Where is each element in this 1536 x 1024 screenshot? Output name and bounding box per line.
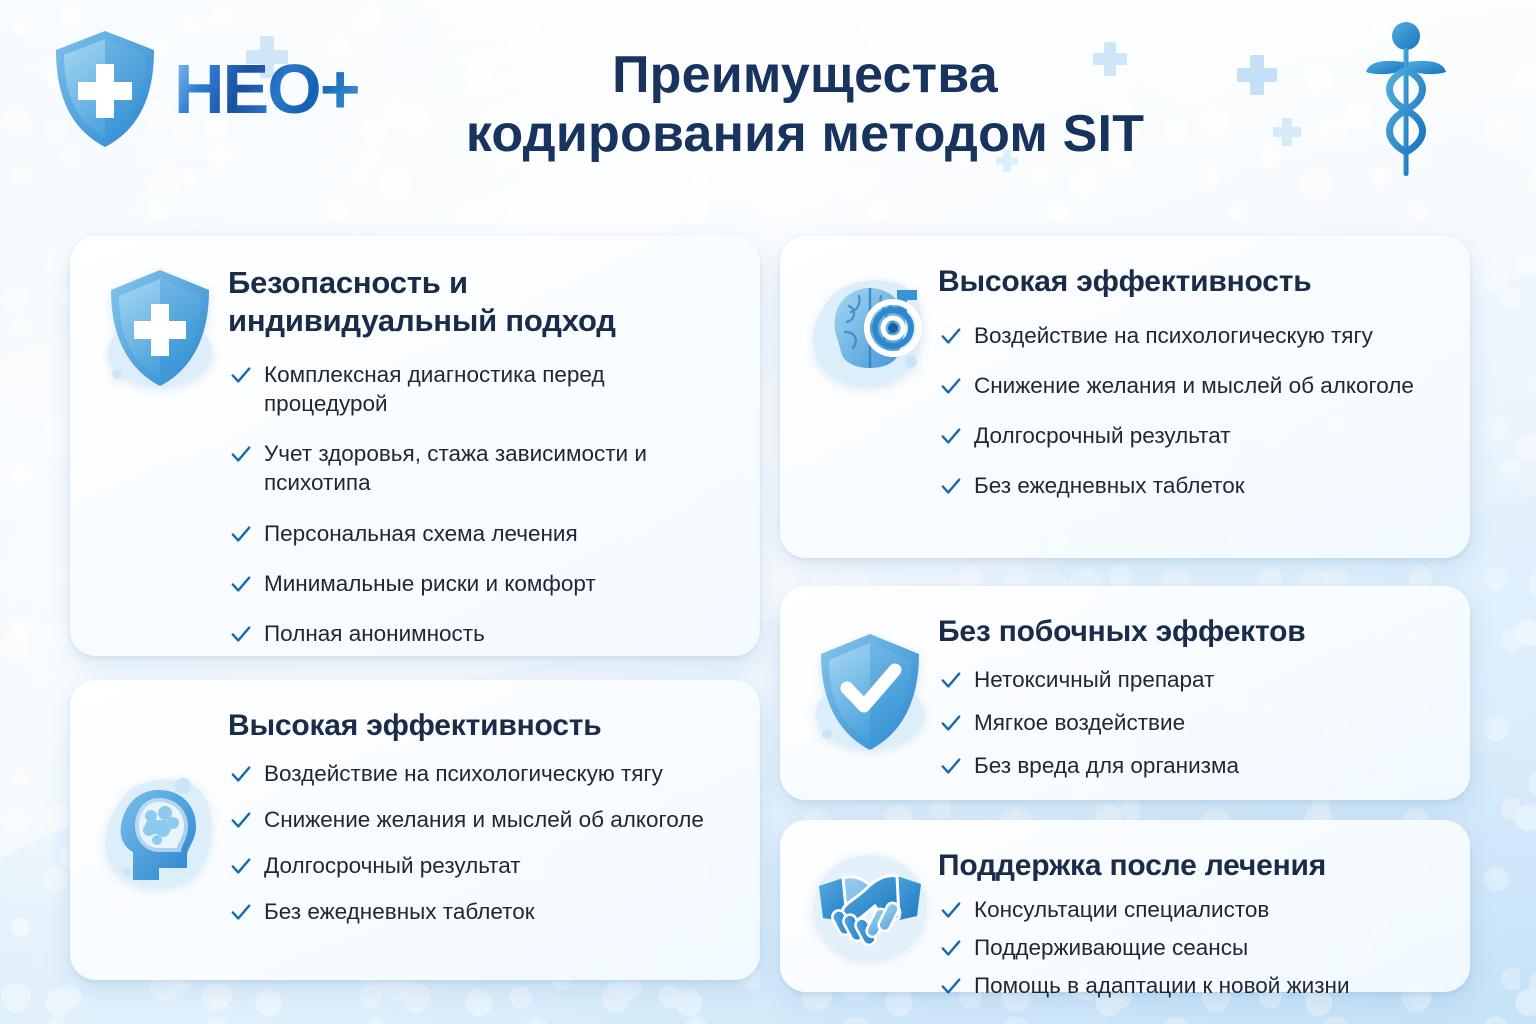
- list-item: Воздействие на психологическую тягу: [938, 321, 1442, 350]
- list-item: Долгосрочный результат: [228, 851, 732, 880]
- list-item-text: Мягкое воздействие: [974, 710, 1185, 735]
- list-item-text: Снижение желания и мыслей об алкоголе: [974, 373, 1414, 398]
- list-item: Снижение желания и мыслей об алкоголе: [938, 371, 1442, 400]
- shield-cross-icon: [50, 28, 160, 150]
- list-item: Помощь в адаптации к новой жизни: [938, 971, 1442, 1000]
- benefit-list: Консультации специалистов Поддерживающие…: [938, 895, 1442, 1001]
- list-item-text: Без ежедневных таблеток: [974, 473, 1245, 498]
- list-item: Без ежедневных таблеток: [228, 897, 732, 926]
- list-item-text: Консультации специалистов: [974, 897, 1269, 922]
- check-icon: [230, 443, 252, 465]
- card-title: Поддержка после лечения: [938, 848, 1442, 885]
- card-title: Без побочных эффектов: [938, 614, 1442, 651]
- check-icon: [940, 475, 962, 497]
- list-item: Мягкое воздействие: [938, 708, 1442, 737]
- check-icon: [230, 364, 252, 386]
- card-effectiveness-left: Высокая эффективность Воздействие на пси…: [70, 680, 760, 980]
- check-icon: [940, 325, 962, 347]
- list-item: Персональная схема лечения: [228, 519, 732, 548]
- list-item-text: Персональная схема лечения: [264, 521, 578, 546]
- list-item-text: Долгосрочный результат: [264, 853, 521, 878]
- list-item: Учет здоровья, стажа зависимости и психо…: [228, 439, 732, 498]
- check-icon: [940, 669, 962, 691]
- page-title-line2: кодирования методом SIT: [300, 105, 1310, 164]
- check-icon: [230, 855, 252, 877]
- card-body: Безопасность и индивидуальный подход Ком…: [228, 260, 732, 634]
- list-item: Без ежедневных таблеток: [938, 471, 1442, 500]
- card-effectiveness-right: Высокая эффективность Воздействие на пси…: [780, 236, 1470, 558]
- list-item-text: Помощь в адаптации к новой жизни: [974, 973, 1350, 998]
- list-item: Консультации специалистов: [938, 895, 1442, 924]
- check-icon: [940, 937, 962, 959]
- infographic-poster: HEO+ Преимущества кодирования методом SI…: [0, 0, 1536, 1024]
- list-item: Снижение желания и мыслей об алкоголе: [228, 805, 732, 834]
- list-item-text: Минимальные риски и комфорт: [264, 571, 596, 596]
- list-item-text: Нетоксичный препарат: [974, 667, 1214, 692]
- list-item-text: Комплексная диагностика перед процедурой: [264, 362, 605, 416]
- check-icon: [940, 975, 962, 997]
- check-icon: [940, 755, 962, 777]
- card-body: Без побочных эффектов Нетоксичный препар…: [938, 610, 1442, 778]
- card-icon-slot: [92, 260, 228, 634]
- page-title: Преимущества кодирования методом SIT: [300, 46, 1310, 165]
- check-icon: [230, 573, 252, 595]
- check-icon: [940, 899, 962, 921]
- list-item-text: Воздействие на психологическую тягу: [264, 761, 663, 786]
- card-icon-slot: [802, 844, 938, 970]
- head-brain-icon: [97, 768, 223, 894]
- card-icon-slot: [802, 610, 938, 778]
- card-body: Высокая эффективность Воздействие на пси…: [228, 704, 732, 958]
- card-no-side-effects: Без побочных эффектов Нетоксичный препар…: [780, 586, 1470, 800]
- card-icon-slot: [802, 260, 938, 536]
- list-item: Полная анонимность: [228, 619, 732, 648]
- handshake-icon: [809, 848, 931, 966]
- check-icon: [230, 809, 252, 831]
- list-item: Нетоксичный препарат: [938, 665, 1442, 694]
- list-item-text: Долгосрочный результат: [974, 423, 1231, 448]
- card-title: Высокая эффективность: [228, 708, 732, 745]
- check-icon: [230, 623, 252, 645]
- card-title: Высокая эффективность: [938, 264, 1442, 301]
- check-icon: [940, 712, 962, 734]
- brain-target-icon: [807, 266, 933, 392]
- card-icon-slot: [92, 704, 228, 958]
- card-support: Поддержка после лечения Консультации спе…: [780, 820, 1470, 992]
- card-body: Высокая эффективность Воздействие на пси…: [938, 260, 1442, 536]
- benefit-list: Комплексная диагностика перед процедурой…: [228, 360, 732, 649]
- card-safety: Безопасность и индивидуальный подход Ком…: [70, 236, 760, 656]
- check-icon: [230, 763, 252, 785]
- list-item-text: Учет здоровья, стажа зависимости и психо…: [264, 441, 647, 495]
- list-item-text: Полная анонимность: [264, 621, 485, 646]
- header: HEO+ Преимущества кодирования методом SI…: [0, 0, 1536, 210]
- check-icon: [940, 425, 962, 447]
- list-item-text: Без ежедневных таблеток: [264, 899, 535, 924]
- list-item: Комплексная диагностика перед процедурой: [228, 360, 732, 419]
- check-icon: [230, 901, 252, 923]
- benefit-list: Воздействие на психологическую тягу Сниж…: [938, 321, 1442, 501]
- shield-check-icon: [809, 630, 931, 758]
- list-item-text: Поддерживающие сеансы: [974, 935, 1248, 960]
- benefit-list: Нетоксичный препарат Мягкое воздействие …: [938, 665, 1442, 781]
- page-title-line1: Преимущества: [300, 46, 1310, 105]
- list-item: Без вреда для организма: [938, 751, 1442, 780]
- list-item-text: Воздействие на психологическую тягу: [974, 323, 1373, 348]
- benefit-list: Воздействие на психологическую тягу Сниж…: [228, 759, 732, 927]
- caduceus-icon: [1364, 18, 1448, 186]
- list-item-text: Снижение желания и мыслей об алкоголе: [264, 807, 704, 832]
- card-body: Поддержка после лечения Консультации спе…: [938, 844, 1442, 970]
- list-item: Минимальные риски и комфорт: [228, 569, 732, 598]
- shield-cross-icon: [101, 266, 219, 394]
- card-title: Безопасность и индивидуальный подход: [228, 264, 732, 340]
- check-icon: [940, 375, 962, 397]
- list-item: Поддерживающие сеансы: [938, 933, 1442, 962]
- list-item: Долгосрочный результат: [938, 421, 1442, 450]
- check-icon: [230, 523, 252, 545]
- list-item: Воздействие на психологическую тягу: [228, 759, 732, 788]
- list-item-text: Без вреда для организма: [974, 753, 1239, 778]
